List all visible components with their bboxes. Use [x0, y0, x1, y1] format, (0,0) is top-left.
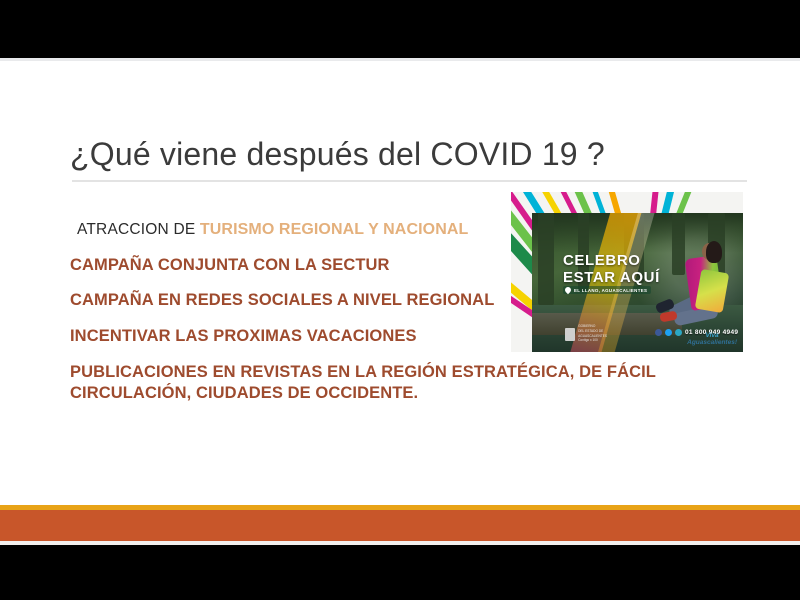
presentation-slide: ¿Qué viene después del COVID 19 ? ATRACC… [0, 61, 800, 541]
ad-seal-line2: DEL ESTADO DE [578, 330, 607, 334]
government-crest-icon [565, 328, 575, 341]
location-pin-icon [564, 286, 572, 294]
ad-location-badge: EL LLANO, AGUASCALIENTES [563, 286, 651, 294]
bullet-line-publicaciones: PUBLICACIONES EN REVISTAS EN LA REGIÓN E… [70, 362, 682, 404]
ad-seal-text: GOBIERNO DEL ESTADO DE AGUASCALIENTES Co… [578, 325, 607, 343]
slide-title: ¿Qué viene después del COVID 19 ? [70, 136, 760, 173]
instagram-icon [675, 329, 682, 336]
facebook-icon [655, 329, 662, 336]
ad-seal-line4: Contigo x 100 [578, 339, 607, 343]
title-underline-rule [72, 180, 747, 182]
letterbox-bar-top [0, 0, 800, 58]
ad-figure-hair [706, 241, 722, 263]
tourism-advertisement-image: CELEBRO ESTAR AQUÍ EL LLANO, AGUASCALIEN… [511, 192, 743, 352]
ad-brand-line2: Aguascalientes! [687, 340, 737, 347]
ad-forest-photo: CELEBRO ESTAR AQUÍ EL LLANO, AGUASCALIEN… [532, 213, 743, 352]
ad-tree [538, 213, 554, 305]
ad-location-text: EL LLANO, AGUASCALIENTES [574, 288, 647, 293]
slide-accent-band-orange [0, 510, 800, 541]
ad-seated-woman-figure [650, 241, 736, 337]
screenshot-stage: ¿Qué viene después del COVID 19 ? ATRACC… [0, 0, 800, 600]
ad-headline-line1: CELEBRO [563, 253, 660, 270]
ad-headline: CELEBRO ESTAR AQUÍ [563, 253, 660, 287]
twitter-icon [665, 329, 672, 336]
ad-brand-logo: Viva Aguascalientes! [687, 333, 737, 347]
bullet-line-attraction-highlight: TURISMO REGIONAL Y NACIONAL [200, 221, 469, 238]
letterbox-bar-bottom [0, 545, 800, 600]
ad-government-seal: GOBIERNO DEL ESTADO DE AGUASCALIENTES Co… [565, 326, 607, 342]
bullet-line-attraction-prefix: ATRACCION DE [77, 221, 200, 238]
ad-figure-shawl [695, 269, 730, 313]
ad-headline-line2: ESTAR AQUÍ [563, 270, 660, 287]
